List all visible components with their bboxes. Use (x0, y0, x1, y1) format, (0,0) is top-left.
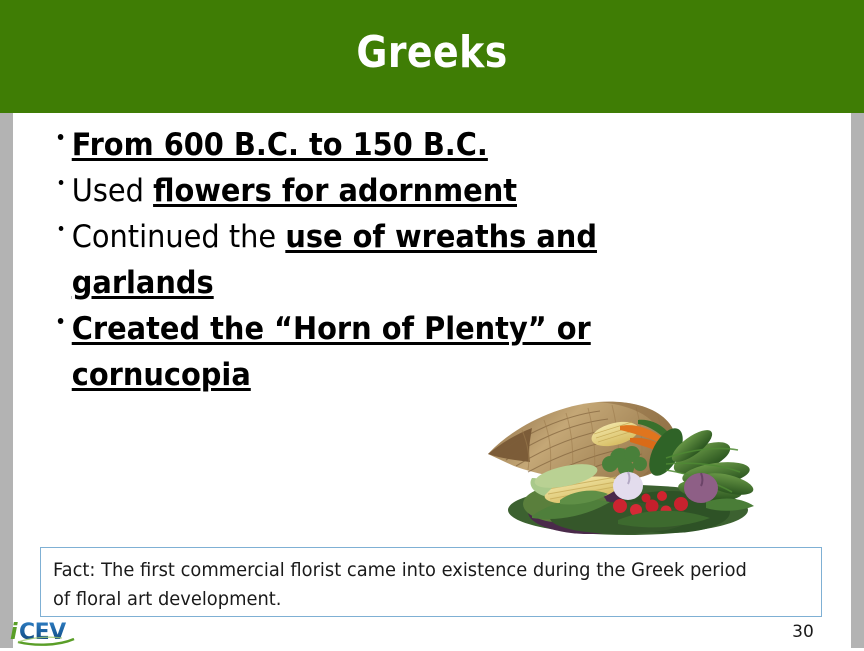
list-item: Used flowers for adornment (55, 168, 706, 214)
bullet-dot-icon (58, 318, 64, 324)
fact-box: Fact: The first commercial florist came … (40, 547, 822, 617)
bullet-dot-icon (59, 226, 64, 231)
cornucopia-photo (470, 392, 770, 540)
list-item-text: cornucopia (72, 357, 251, 393)
list-item-text-emphasis: use of wreaths and (285, 219, 597, 255)
svg-text:CEV: CEV (19, 620, 66, 645)
page-title: Greeks (60, 22, 803, 84)
list-item-continuation: garlands (55, 260, 706, 306)
bullet-dot-icon (59, 180, 64, 185)
page-number: 30 (780, 622, 826, 642)
bullet-dot-icon (58, 134, 64, 140)
list-item-text: Created the “Horn of Plenty” or (72, 311, 591, 347)
svg-text:i: i (10, 620, 18, 645)
list-item: Created the “Horn of Plenty” or (55, 306, 706, 352)
icev-logo: i CEV (10, 618, 102, 646)
list-item: From 600 B.C. to 150 B.C. (55, 122, 706, 168)
bullet-list: From 600 B.C. to 150 B.C. Used flowers f… (55, 122, 755, 398)
list-item-text: From 600 B.C. to 150 B.C. (72, 127, 488, 163)
left-frame-band (0, 113, 13, 648)
list-item-text-plain: Used (72, 173, 153, 209)
list-item-text-plain: Continued the (72, 219, 286, 255)
list-item-text: garlands (72, 265, 214, 301)
right-frame-band (851, 113, 864, 648)
fact-box-text: Fact: The first commercial florist came … (53, 556, 763, 614)
list-item-text-emphasis: flowers for adornment (153, 173, 517, 209)
slide: Greeks From 600 B.C. to 150 B.C. Used fl… (0, 0, 864, 648)
list-item: Continued the use of wreaths and (55, 214, 706, 260)
